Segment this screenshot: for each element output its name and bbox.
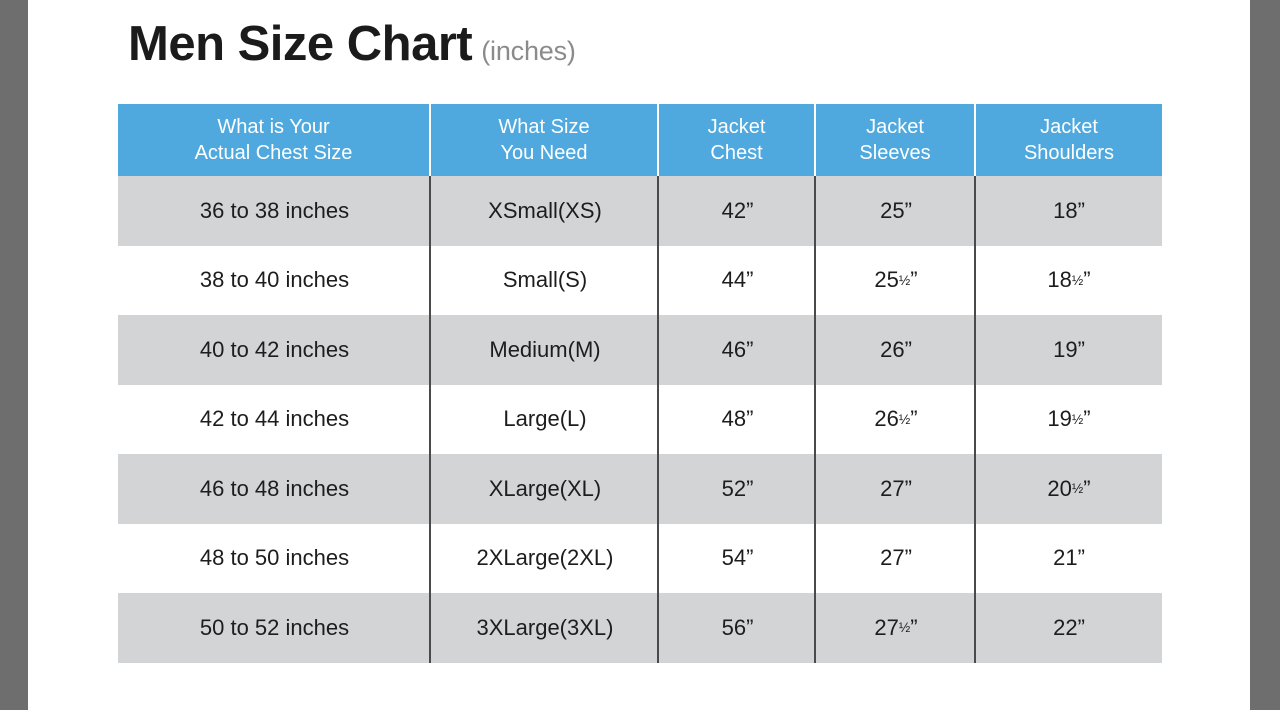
cell-jacket-sleeves: 26” <box>816 315 976 385</box>
cell-chest-range: 38 to 40 inches <box>118 246 431 316</box>
cell-size-needed: 3XLarge(3XL) <box>431 593 659 663</box>
screenshot-stage: Men Size Chart (inches) What is Your Act… <box>0 0 1280 710</box>
column-header-actual-chest-size: What is Your Actual Chest Size <box>118 104 431 176</box>
column-header-line2: Chest <box>710 140 762 166</box>
cell-jacket-chest: 42” <box>659 176 816 246</box>
column-header-size-you-need: What Size You Need <box>431 104 659 176</box>
cell-jacket-chest: 52” <box>659 454 816 524</box>
cell-jacket-chest: 46” <box>659 315 816 385</box>
table-row: 46 to 48 inchesXLarge(XL)52”27”20½” <box>118 454 1162 524</box>
cell-jacket-sleeves: 27” <box>816 524 976 594</box>
column-header-jacket-chest: Jacket Chest <box>659 104 816 176</box>
cell-jacket-shoulders: 19” <box>976 315 1162 385</box>
letterbox-bar-left <box>0 0 28 710</box>
column-header-line2: You Need <box>500 140 587 166</box>
table-row: 38 to 40 inchesSmall(S)44”25½”18½” <box>118 246 1162 316</box>
cell-jacket-sleeves: 25” <box>816 176 976 246</box>
cell-size-needed: Medium(M) <box>431 315 659 385</box>
cell-chest-range: 36 to 38 inches <box>118 176 431 246</box>
column-header-line1: Jacket <box>708 114 766 140</box>
column-header-line2: Actual Chest Size <box>195 140 353 166</box>
cell-jacket-chest: 56” <box>659 593 816 663</box>
cell-jacket-shoulders: 19½” <box>976 385 1162 455</box>
cell-jacket-sleeves: 27” <box>816 454 976 524</box>
column-header-jacket-shoulders: Jacket Shoulders <box>976 104 1162 176</box>
cell-size-needed: XSmall(XS) <box>431 176 659 246</box>
column-header-jacket-sleeves: Jacket Sleeves <box>816 104 976 176</box>
table-row: 48 to 50 inches2XLarge(2XL)54”27”21” <box>118 524 1162 594</box>
table-row: 42 to 44 inchesLarge(L)48”26½”19½” <box>118 385 1162 455</box>
table-row: 40 to 42 inchesMedium(M)46”26”19” <box>118 315 1162 385</box>
half-fraction-glyph: ½ <box>1072 273 1083 288</box>
cell-jacket-chest: 44” <box>659 246 816 316</box>
cell-jacket-shoulders: 18” <box>976 176 1162 246</box>
cell-chest-range: 48 to 50 inches <box>118 524 431 594</box>
cell-jacket-shoulders: 20½” <box>976 454 1162 524</box>
cell-size-needed: 2XLarge(2XL) <box>431 524 659 594</box>
half-fraction-glyph: ½ <box>1072 481 1083 496</box>
cell-jacket-shoulders: 21” <box>976 524 1162 594</box>
table-header-row: What is Your Actual Chest Size What Size… <box>118 104 1162 176</box>
cell-jacket-sleeves: 25½” <box>816 246 976 316</box>
half-fraction-glyph: ½ <box>899 620 910 635</box>
cell-chest-range: 42 to 44 inches <box>118 385 431 455</box>
cell-size-needed: Small(S) <box>431 246 659 316</box>
cell-jacket-shoulders: 22” <box>976 593 1162 663</box>
table-row: 36 to 38 inchesXSmall(XS)42”25”18” <box>118 176 1162 246</box>
cell-size-needed: Large(L) <box>431 385 659 455</box>
column-header-line2: Shoulders <box>1024 140 1114 166</box>
letterbox-bar-right <box>1250 0 1280 710</box>
cell-chest-range: 40 to 42 inches <box>118 315 431 385</box>
cell-jacket-sleeves: 26½” <box>816 385 976 455</box>
column-header-line1: What Size <box>498 114 589 140</box>
column-header-line1: What is Your <box>217 114 329 140</box>
cell-size-needed: XLarge(XL) <box>431 454 659 524</box>
page-title: Men Size Chart (inches) <box>128 16 576 72</box>
half-fraction-glyph: ½ <box>1072 412 1083 427</box>
cell-chest-range: 50 to 52 inches <box>118 593 431 663</box>
page-title-main: Men Size Chart <box>128 16 472 72</box>
cell-jacket-chest: 48” <box>659 385 816 455</box>
table-row: 50 to 52 inches3XLarge(3XL)56”27½”22” <box>118 593 1162 663</box>
table-body: 36 to 38 inchesXSmall(XS)42”25”18”38 to … <box>118 176 1162 663</box>
column-header-line2: Sleeves <box>859 140 930 166</box>
cell-jacket-shoulders: 18½” <box>976 246 1162 316</box>
cell-jacket-chest: 54” <box>659 524 816 594</box>
half-fraction-glyph: ½ <box>899 412 910 427</box>
cell-chest-range: 46 to 48 inches <box>118 454 431 524</box>
page-title-unit-note: (inches) <box>481 36 575 67</box>
size-chart-page: Men Size Chart (inches) What is Your Act… <box>28 0 1250 710</box>
column-header-line1: Jacket <box>866 114 924 140</box>
size-chart-table: What is Your Actual Chest Size What Size… <box>118 104 1162 663</box>
half-fraction-glyph: ½ <box>899 273 910 288</box>
cell-jacket-sleeves: 27½” <box>816 593 976 663</box>
column-header-line1: Jacket <box>1040 114 1098 140</box>
